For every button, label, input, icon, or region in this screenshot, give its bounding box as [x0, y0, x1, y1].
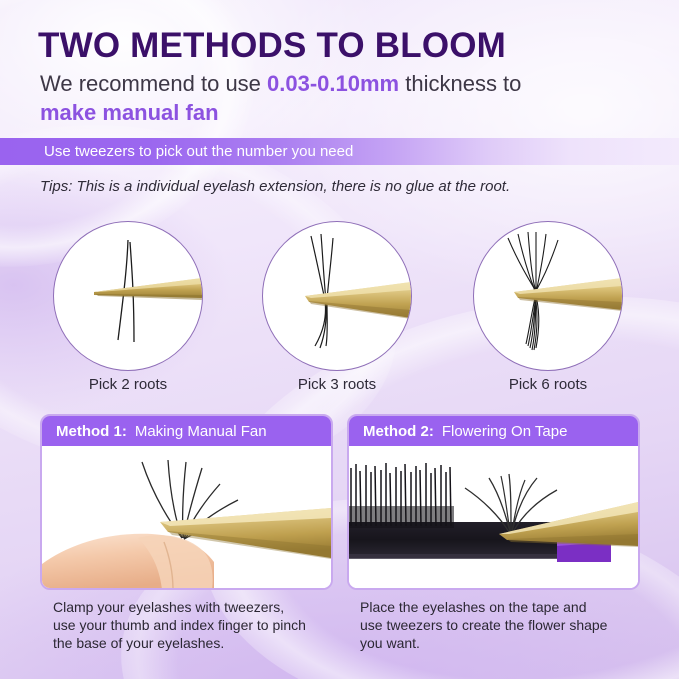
infographic-page: TWO METHODS TO BLOOM We recommend to use… [0, 0, 679, 679]
pick-3-roots-circle [262, 221, 412, 371]
recommendation-line-2: make manual fan [40, 100, 219, 126]
instruction-banner-text: Use tweezers to pick out the number you … [44, 143, 353, 160]
method-1-number: Method 1: [56, 423, 127, 440]
method-2-photo [349, 446, 638, 590]
method-2-caption: Place the eyelashes on the tape and use … [360, 598, 660, 652]
pick-roots-step: Pick 2 roots [53, 221, 203, 371]
pick-2-roots-circle [53, 221, 203, 371]
method-2-number: Method 2: [363, 423, 434, 440]
caption-line: use your thumb and index finger to pinch [53, 616, 353, 634]
method-2-name: Flowering On Tape [442, 423, 568, 440]
recommendation-suffix: thickness to [399, 71, 521, 96]
hand-pinching-lash-fan-photo [42, 446, 331, 590]
pick-roots-step: Pick 6 roots [473, 221, 623, 371]
caption-line: use tweezers to create the flower shape [360, 616, 660, 634]
pick-roots-label: Pick 2 roots [53, 376, 203, 393]
recommendation-line: We recommend to use 0.03-0.10mm thicknes… [40, 71, 521, 97]
pick-roots-label: Pick 3 roots [262, 376, 412, 393]
pick-roots-label: Pick 6 roots [473, 376, 623, 393]
caption-line: the base of your eyelashes. [53, 634, 353, 652]
pick-6-roots-circle [473, 221, 623, 371]
recommendation-prefix: We recommend to use [40, 71, 267, 96]
method-1-photo [42, 446, 331, 590]
method-1-card: Method 1: Making Manual Fan [40, 414, 333, 590]
lash-strip-on-tape-photo [349, 446, 638, 590]
method-2-card: Method 2: Flowering On Tape [347, 414, 640, 590]
caption-line: Clamp your eyelashes with tweezers, [53, 598, 353, 616]
page-title: TWO METHODS TO BLOOM [38, 26, 506, 66]
tweezers-with-lashes-icon [263, 222, 411, 370]
caption-line: you want. [360, 634, 660, 652]
method-1-header: Method 1: Making Manual Fan [42, 416, 331, 446]
thickness-value: 0.03-0.10mm [267, 71, 399, 96]
tweezers-with-lashes-icon [474, 222, 622, 370]
method-1-name: Making Manual Fan [135, 423, 267, 440]
pick-roots-step: Pick 3 roots [262, 221, 412, 371]
tweezers-with-lashes-icon [54, 222, 202, 370]
method-2-header: Method 2: Flowering On Tape [349, 416, 638, 446]
method-1-caption: Clamp your eyelashes with tweezers, use … [53, 598, 353, 652]
caption-line: Place the eyelashes on the tape and [360, 598, 660, 616]
pick-roots-row: Pick 2 roots [0, 218, 679, 388]
tips-text: Tips: This is a individual eyelash exten… [40, 178, 510, 195]
